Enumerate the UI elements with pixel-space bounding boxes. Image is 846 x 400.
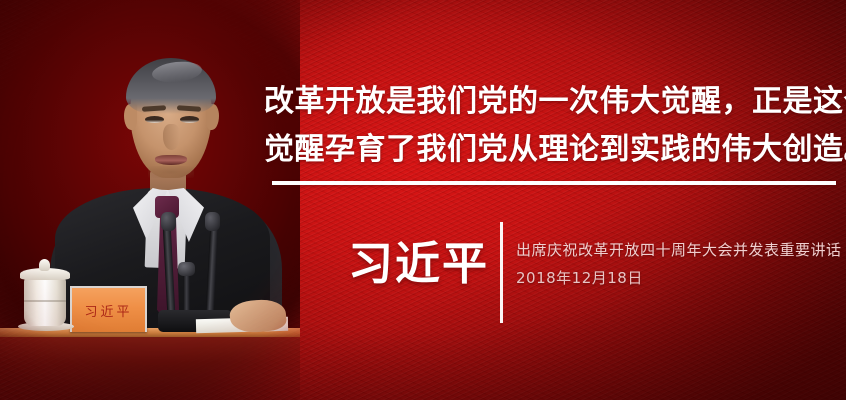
event-description: 出席庆祝改革开放四十周年大会并发表重要讲话: [516, 241, 842, 259]
event-date: 2018年12月18日: [516, 264, 842, 292]
microphone-head-right: [205, 212, 220, 231]
eye-left: [145, 116, 164, 123]
chin-shadow: [148, 166, 194, 178]
quote-block: 改革开放是我们党的一次伟大觉醒，正是这个伟大 觉醒孕育了我们党从理论到实践的伟大…: [264, 78, 840, 174]
commemorative-banner: 习近平 改革开放是我们党的一次伟大觉醒，正是这个伟大 觉醒孕育了我们党从理论到实…: [0, 0, 846, 400]
speaker-photo: 习近平: [0, 0, 300, 400]
desk-nameplate: 习近平: [70, 286, 147, 332]
horizontal-divider: [272, 181, 836, 185]
teacup-ring: [24, 300, 66, 302]
teacup-lid-knob: [39, 259, 50, 271]
attribution-block: 习近平: [348, 222, 489, 292]
speaker-name: 习近平: [348, 236, 489, 292]
microphone-head-center: [178, 262, 195, 276]
quote-line-2: 觉醒孕育了我们党从理论到实践的伟大创造。: [264, 126, 840, 174]
quote-line-1: 改革开放是我们党的一次伟大觉醒，正是这个伟大: [264, 78, 840, 126]
desk-front-panel: [0, 337, 300, 400]
nose: [163, 124, 180, 150]
vertical-divider: [500, 222, 503, 323]
event-description-block: 出席庆祝改革开放四十周年大会并发表重要讲话 2018年12月18日: [516, 236, 842, 292]
speaker-photo-inner: 习近平: [0, 0, 300, 400]
mouth: [155, 155, 187, 165]
eye-right: [180, 116, 199, 123]
desk-nameplate-text: 习近平: [84, 301, 132, 320]
microphone-head-left: [161, 212, 176, 231]
